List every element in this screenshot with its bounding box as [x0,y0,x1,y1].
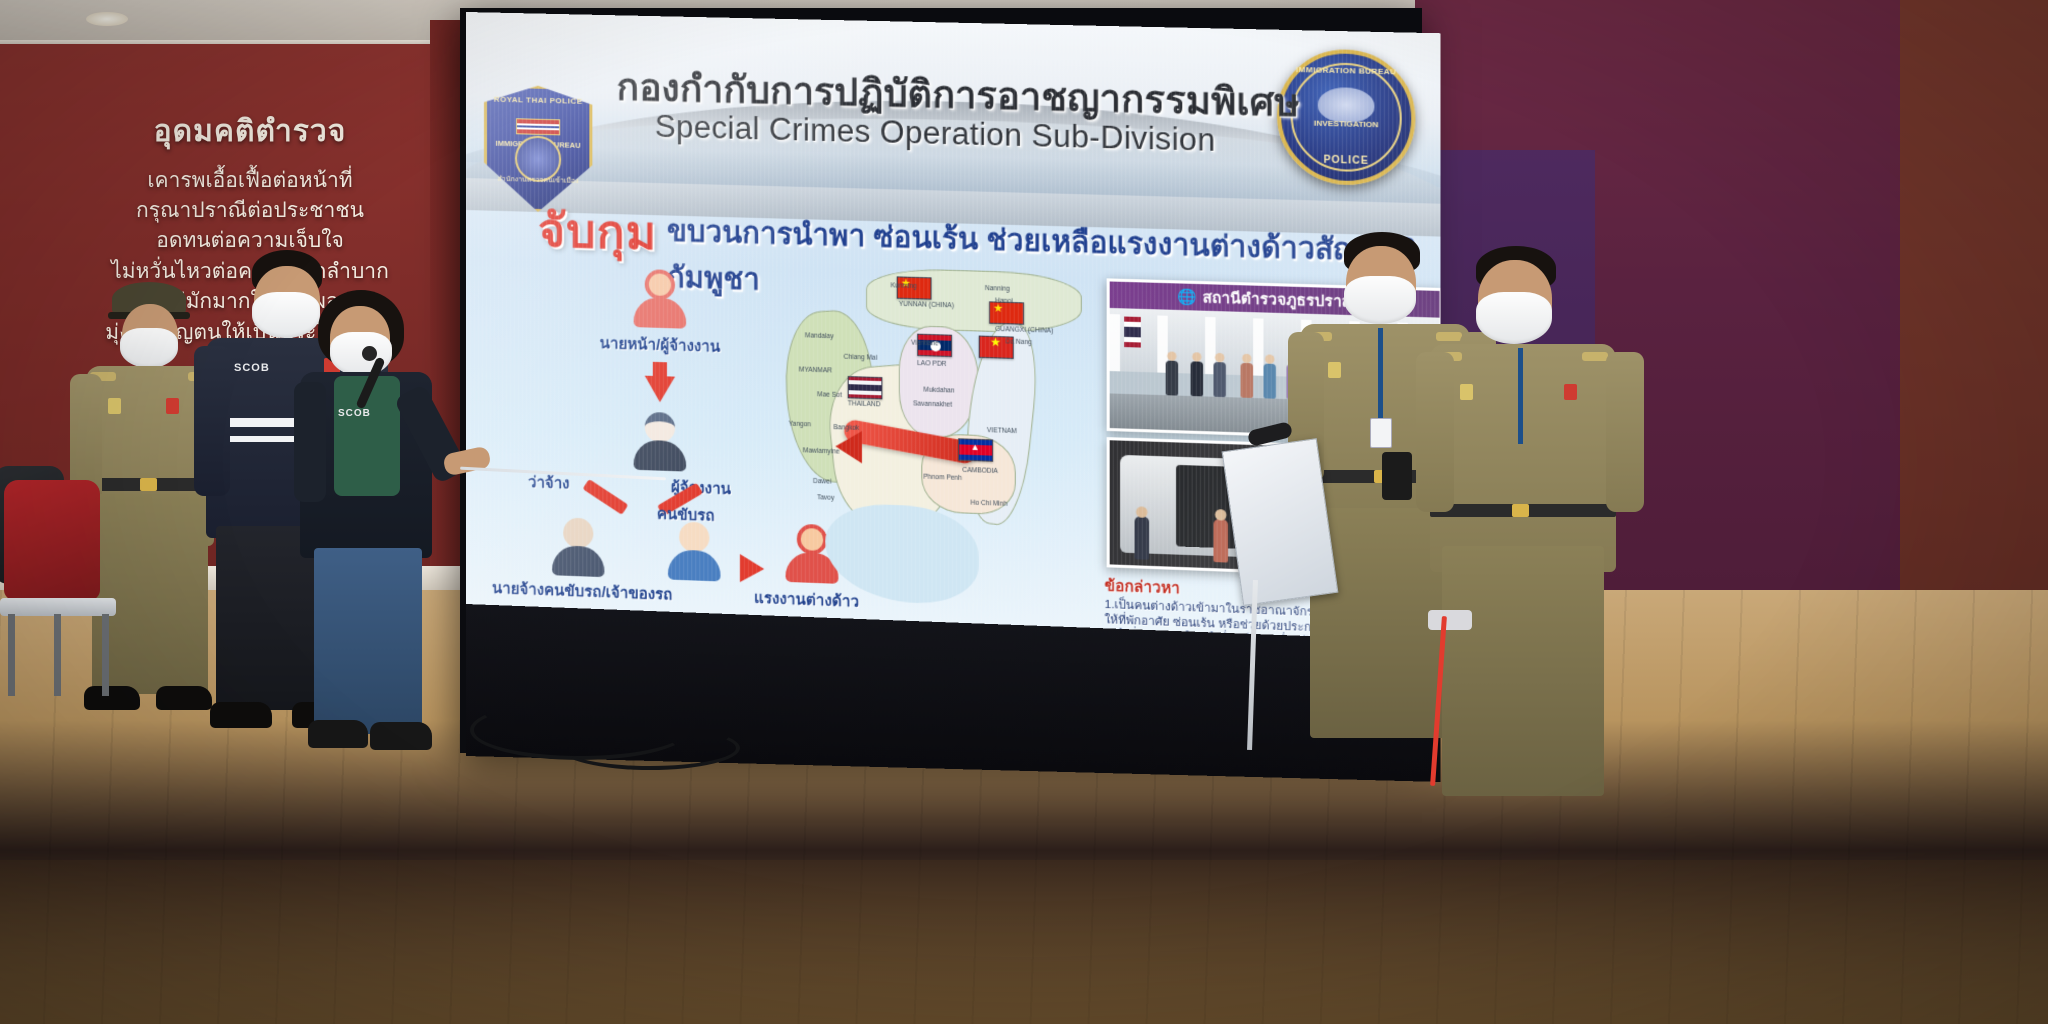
map-city-label: Yangon [789,421,811,429]
metal-stool [0,576,120,706]
map-sea [825,503,978,606]
station-person [1191,361,1203,396]
name-tag [1564,384,1577,400]
person-speaker-woman: SCOB [300,290,500,760]
broker-person-icon [628,265,693,331]
map-city-label: Chiang Mai [844,354,878,362]
headline-emphasis: จับกุม [538,194,657,271]
badge-bottom-text: POLICE [1281,154,1411,169]
arrow-left-icon [583,479,629,515]
officer-at-van [1135,516,1150,559]
rank-insignia [1460,384,1473,400]
floor-cable [560,726,740,770]
motto-line: เคารพเอื้อเฟื้อต่อหน้าที่ [70,166,430,196]
motto-line: กรุณาปราณีต่อประชาชน [70,196,430,226]
flag-cambodia-icon [958,438,993,461]
epaulet [1582,352,1608,361]
shirt-text: SCOB [338,408,371,419]
head-shape [563,517,593,548]
globe-icon: 🌐 [1178,288,1197,307]
radio-pouch [1382,452,1412,500]
route-arrow-head-icon [835,430,862,463]
head-shape [645,412,675,443]
rank-insignia [1328,362,1341,378]
flag-thailand-icon [848,376,883,399]
arm-right [1606,352,1644,512]
arm-left [194,346,230,496]
station-person [1166,361,1178,396]
press-conference-scene: อุดมคติตำรวจ เคารพเอื้อเฟื้อต่อหน้าที่ ก… [0,0,2048,1024]
flow-label-broker: นายหน้า/ผู้จ้างงาน [584,331,735,360]
eagle-icon [1318,86,1375,122]
motto-heading: อุดมคติตำรวจ [70,110,430,154]
id-card [1370,418,1392,448]
sneaker-right [370,722,432,750]
flow-node-broker: นายหน้า/ผู้จ้างงาน [584,263,735,359]
thai-flag-icon [1124,317,1141,348]
stool-leg [54,614,61,696]
flow-label-driver: คนขับรถ [657,502,715,528]
map-city-label: Ho Chi Minh [971,500,1008,508]
sneaker-left [308,720,368,748]
rank-insignia [108,398,121,414]
shoe-left [210,702,272,728]
arm-left [1416,352,1454,512]
map-city-label: Hanoi [995,297,1012,305]
stool-leg [8,614,15,696]
map-city-label: Nanning [985,285,1010,293]
map-city-label: Dawei [813,478,831,486]
face-mask [120,328,178,368]
face-mask [330,332,392,376]
arm-left [294,382,326,502]
uniform-torso [1430,344,1616,572]
flow-node-employer [530,512,627,580]
belt-buckle [1512,504,1529,517]
map-city-label: Bangkok [833,424,859,432]
body-shape [634,440,687,472]
map-city-label: Mandalay [805,332,834,340]
body-shape [634,297,687,329]
map-city-label: Vientiane [911,340,939,348]
face-mask [1476,292,1552,344]
flow-label-employer: นายจ้างคนขับรถ/เจ้าของรถ [492,576,672,607]
map-city-label: Tavoy [817,494,834,502]
body-shape [668,549,721,581]
microphone-head [362,346,377,361]
map-label: LAO PDR [917,360,946,368]
map-city-label: Phnom Penh [923,474,962,482]
arrow-down-icon [645,376,675,403]
trafficking-flow-diagram: นายหน้า/ผู้จ้างงาน ว่าจ้าง ผู้จ้างงาน [506,261,809,593]
lanyard [1518,348,1523,444]
name-tag [166,398,179,414]
ceiling-light [86,12,128,26]
map-label: VIETNAM [987,427,1017,435]
map-city-label: Mae Sot [817,391,842,399]
head-shape [645,269,675,300]
shirt-text: SCOB [234,362,270,374]
wristwatch [1428,610,1472,630]
badge-top-text: IMMIGRATION BUREAU [1281,65,1411,77]
southeast-asia-map: YUNNAN (CHINA) GUANGXI (CHINA) MYANMAR T… [768,269,1106,614]
agent-person-icon [628,407,693,474]
map-city-label: Mukdahan [923,387,954,395]
map-label: THAILAND [848,400,881,408]
map-label: CAMBODIA [962,467,998,475]
jeans [314,548,422,734]
body-shape [552,545,604,577]
map-city-label: Kunming [891,282,917,290]
station-person [1264,364,1277,399]
map-city-label: Savannakhet [913,400,952,408]
map-city-label: Mawlamyine [803,447,840,455]
detained-person [1213,519,1228,562]
flow-node-agent [617,407,704,474]
map-city-label: Da Nang [1005,338,1031,346]
person-officer-right-outer [1430,246,1640,806]
trousers [1442,546,1604,796]
floor-shadow [0,860,2048,1024]
lanyard [1378,328,1383,420]
station-person [1213,362,1225,397]
station-person [1241,363,1254,398]
employer-person-icon [546,513,610,580]
belt-buckle [140,478,157,491]
arrow-right-icon [740,554,764,583]
stool-leg [102,614,109,696]
face-mask [1344,276,1416,324]
flag-icon [516,118,560,135]
map-label: MYANMAR [799,366,832,374]
badge-bottom-text: สำนักงานตรวจคนเข้าเมือง [484,173,592,187]
